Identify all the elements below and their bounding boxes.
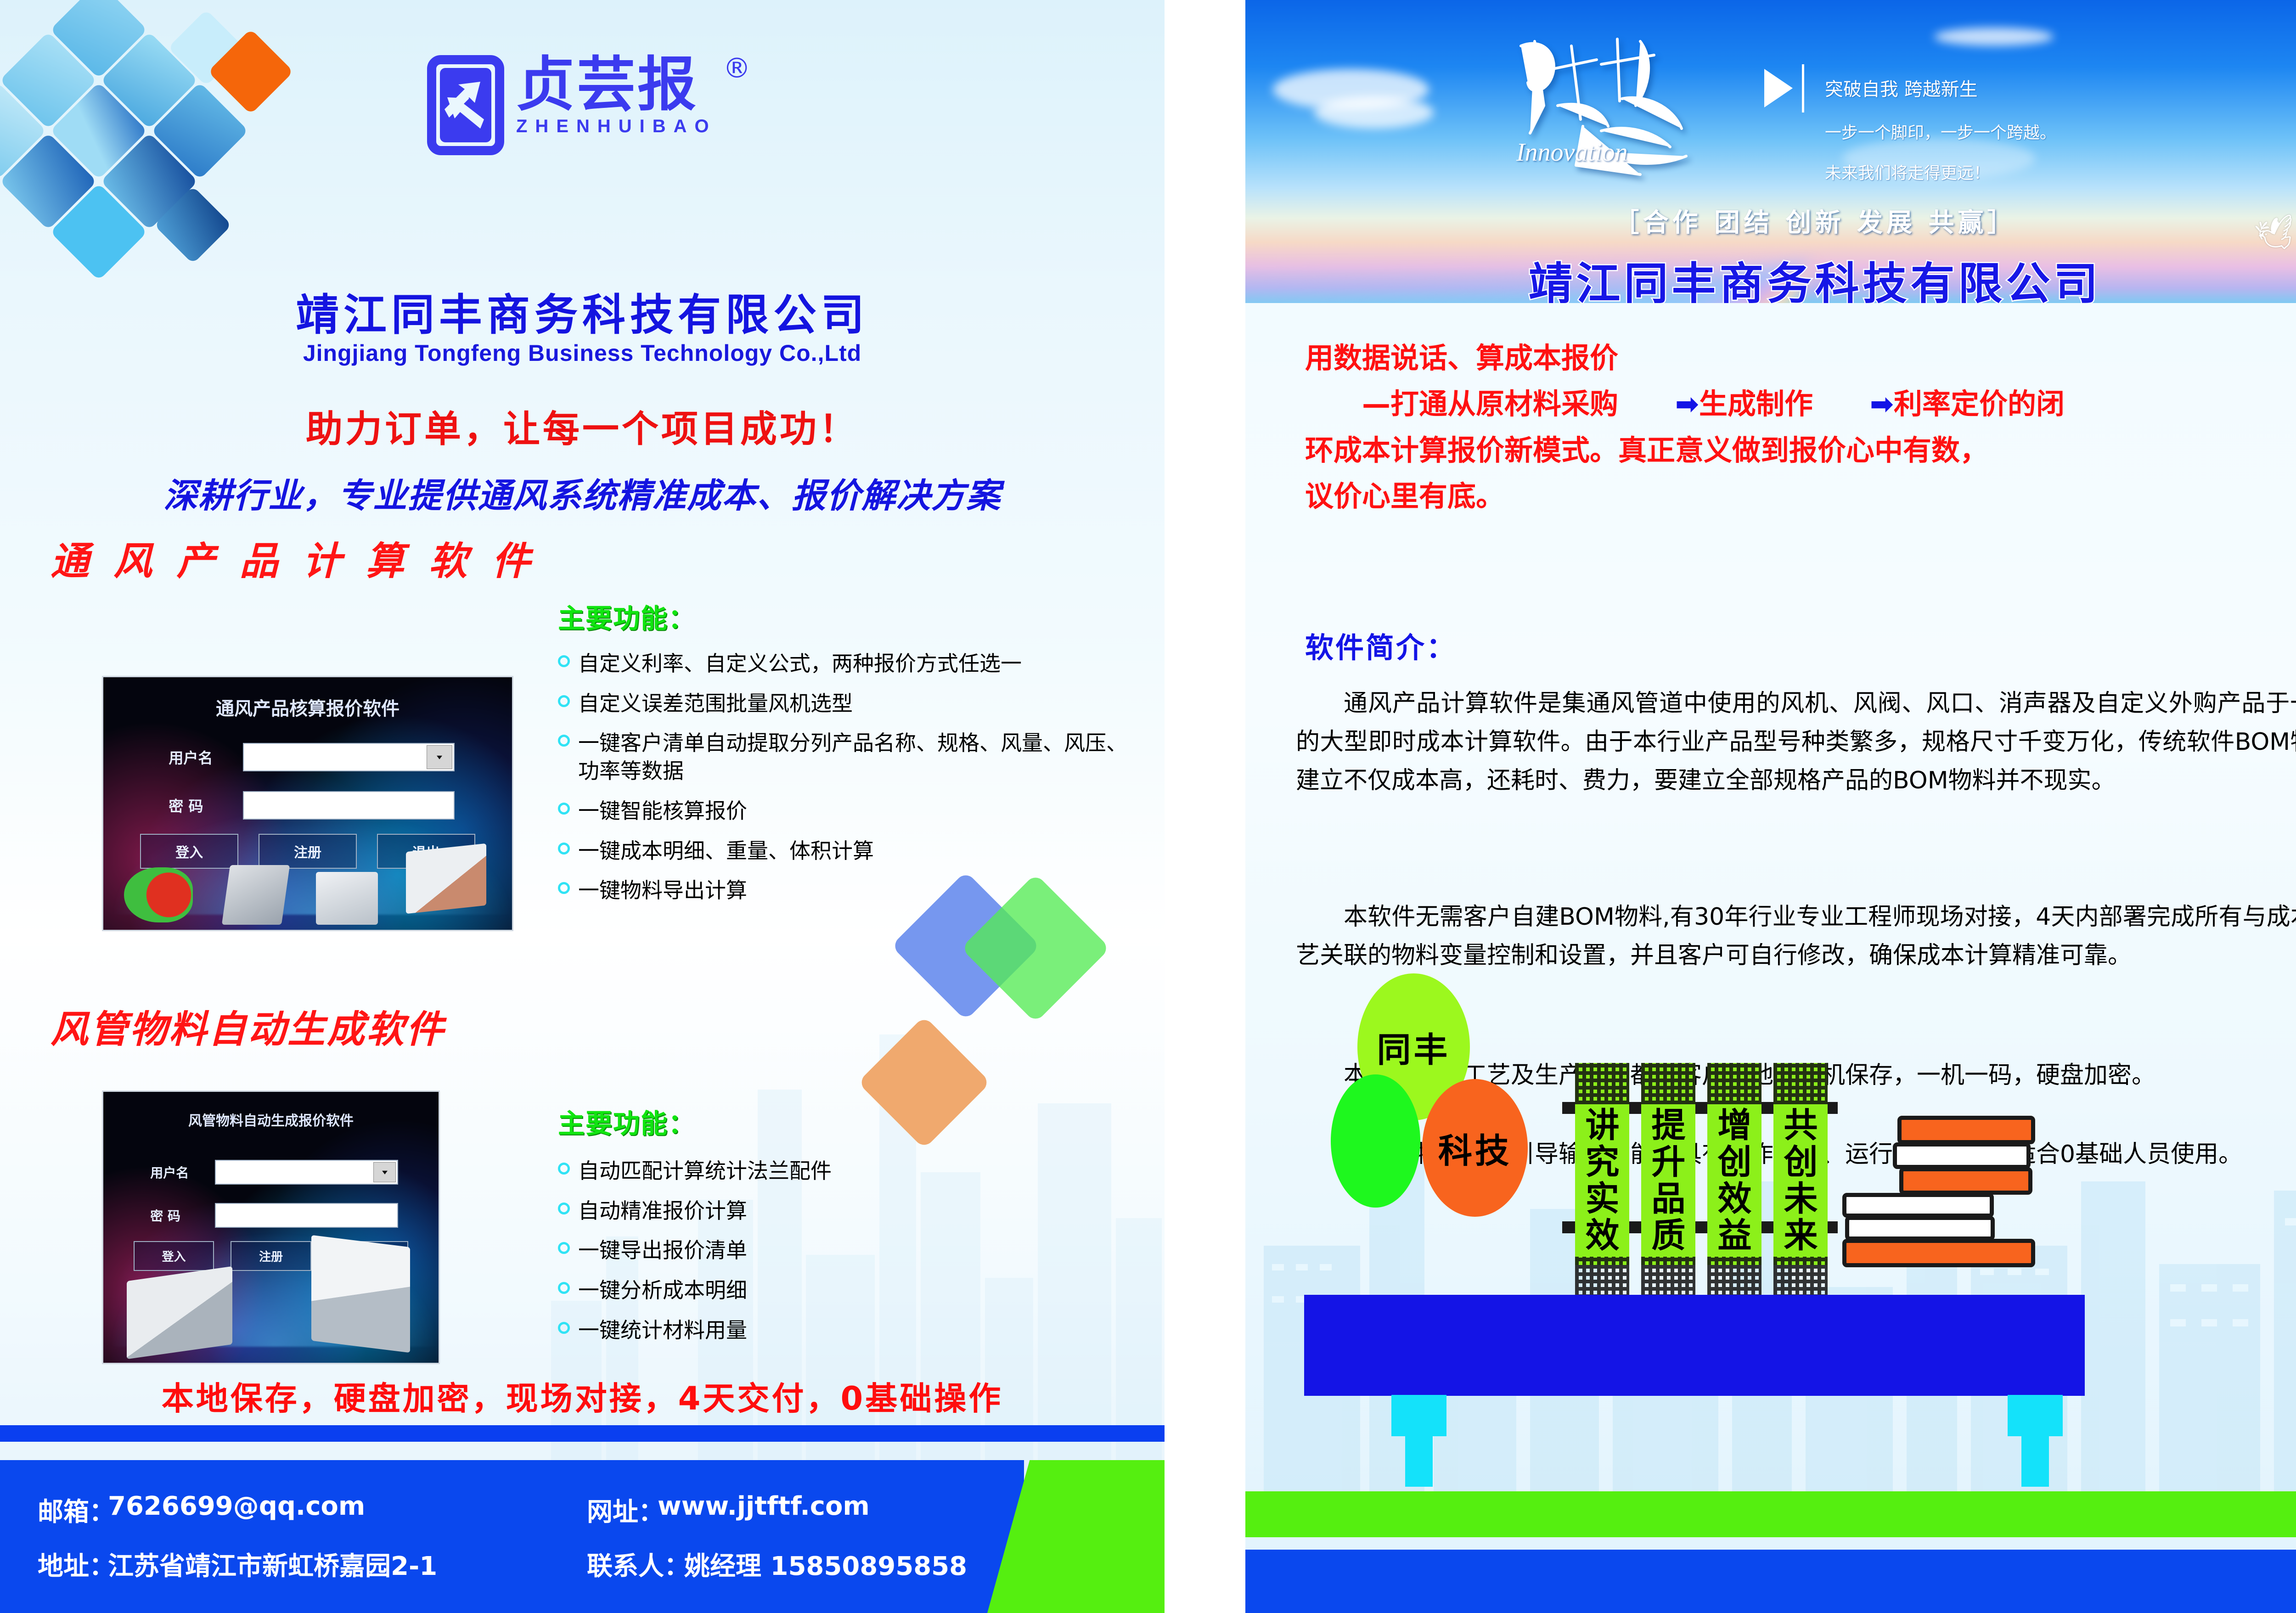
headline-line-2b: 生成制作 bbox=[1699, 387, 1813, 421]
feature-item: 自动匹配计算统计法兰配件 bbox=[558, 1157, 1137, 1185]
banner-1-ornament-top bbox=[1575, 1063, 1629, 1104]
hero-line-2: 一步一个脚印，一步一个跨越。 bbox=[1825, 119, 2056, 143]
left-slogan-blue: 深耕行业，专业提供通风系统精准成本、报价解决方案 bbox=[0, 468, 1165, 517]
app1-title: 通风产品核算报价软件 bbox=[103, 694, 512, 720]
bullet-dot-icon bbox=[558, 1242, 570, 1254]
footer-address-label: 地址： bbox=[38, 1546, 115, 1583]
right-company-name: 靖江同丰商务科技有限公司 bbox=[1245, 248, 2296, 303]
right-page: Innovation 突破自我 跨越新生 一步一个脚印，一步一个跨越。 未来我们… bbox=[1245, 0, 2296, 1613]
banner-2-ornament-top bbox=[1641, 1063, 1695, 1104]
section1-feature-list: 自定义利率、自定义公式，两种报价方式任选一自定义误差范围批量风机选型一键客户清单… bbox=[558, 650, 1137, 916]
seagull-icon-1: 🕊 bbox=[2252, 212, 2296, 258]
kuayue-english-label: Innovation bbox=[1516, 138, 1628, 167]
left-divider-bar-1 bbox=[0, 1425, 1165, 1442]
app2-username-dropdown-icon[interactable] bbox=[373, 1162, 396, 1182]
app1-username-input[interactable] bbox=[243, 743, 455, 771]
logo-z-arrows-icon bbox=[436, 64, 495, 146]
footer-email-value[interactable]: 7626699@qq.com bbox=[108, 1491, 365, 1521]
hero-line-3: 未来我们将走得更远！ bbox=[1825, 160, 1990, 184]
hero-vertical-rule bbox=[1802, 64, 1804, 112]
feature-item: 一键导出报价清单 bbox=[558, 1236, 1137, 1265]
left-page: 贞芸报 ® ZHENHUIBAO 靖江同丰商务科技有限公司 Jingjiang … bbox=[0, 0, 1165, 1613]
product-grille-image bbox=[316, 872, 378, 925]
banner-2: 提升品质 bbox=[1641, 1063, 1695, 1265]
hero-values-tagline: ［合作 团结 创新 发展 共赢］ bbox=[1245, 202, 2296, 239]
left-bottom-banner-text: 本地保存，硬盘加密，现场对接，4天交付，0基础操作 bbox=[0, 1373, 1165, 1419]
feature-item-label: 一键统计材料用量 bbox=[578, 1316, 747, 1344]
footer-contact-label: 联系人： bbox=[587, 1546, 690, 1583]
left-company-name-en: Jingjiang Tongfeng Business Technology C… bbox=[0, 340, 1165, 366]
bullet-dot-icon bbox=[558, 882, 570, 894]
banner-2-ornament-bottom bbox=[1641, 1257, 1695, 1298]
registered-trademark-icon: ® bbox=[723, 52, 751, 84]
footer-website-value[interactable]: www.jjtftf.com bbox=[658, 1491, 870, 1521]
section1-app-screenshot: 通风产品核算报价软件 用户名 密 码 登入 注册 退出 bbox=[102, 676, 513, 931]
intro-paragraph-2: 本软件无需客户自建BOM物料,有30年行业专业工程师现场对接，4天内部署完成所有… bbox=[1296, 898, 2296, 975]
left-slogan-red: 助力订单，让每一个项目成功！ bbox=[0, 399, 1165, 453]
banner-3: 增创效益 bbox=[1707, 1063, 1761, 1265]
right-headline-block: 用数据说话、算成本报价 —打通从原材料采购➡生成制作➡利率定价的闭 环成本计算报… bbox=[1305, 335, 2296, 520]
right-hero-sky: Innovation 突破自我 跨越新生 一步一个脚印，一步一个跨越。 未来我们… bbox=[1245, 0, 2296, 303]
arrow-right-icon-2: ➡ bbox=[1813, 381, 1894, 427]
logo-chinese-text: 贞芸报 bbox=[516, 55, 717, 115]
ellipse-keji: 科技 bbox=[1422, 1079, 1528, 1217]
left-footer: 邮箱： 7626699@qq.com 网址： www.jjtftf.com 地址… bbox=[0, 1460, 1024, 1613]
logo-mark-icon bbox=[427, 55, 504, 155]
app1-username-dropdown-icon[interactable] bbox=[427, 745, 453, 769]
feature-item: 自动精准报价计算 bbox=[558, 1197, 1137, 1225]
feature-item: 自定义利率、自定义公式，两种报价方式任选一 bbox=[558, 650, 1137, 678]
banner-4-ornament-top bbox=[1773, 1063, 1828, 1104]
product-duct-panel-image bbox=[311, 1235, 410, 1352]
shelf-leg-left bbox=[1405, 1395, 1433, 1487]
app1-password-input[interactable] bbox=[243, 791, 455, 820]
poster-spread: 贞芸报 ® ZHENHUIBAO 靖江同丰商务科技有限公司 Jingjiang … bbox=[0, 0, 2296, 1613]
bullet-dot-icon bbox=[558, 735, 570, 747]
app2-login-button[interactable]: 登入 bbox=[134, 1241, 214, 1271]
banner-4-ornament-bottom bbox=[1773, 1257, 1828, 1298]
right-green-band bbox=[1245, 1491, 2296, 1537]
brand-logo: 贞芸报 ® ZHENHUIBAO bbox=[427, 55, 717, 155]
feature-item-label: 自定义误差范围批量风机选型 bbox=[578, 690, 853, 718]
banner-4-text: 共创未来 bbox=[1773, 1104, 1823, 1257]
banner-3-ornament-bottom bbox=[1707, 1257, 1761, 1298]
bullet-dot-icon bbox=[558, 695, 570, 707]
app2-username-input[interactable] bbox=[215, 1160, 399, 1185]
logo-pinyin-text: ZHENHUIBAO bbox=[516, 116, 717, 137]
feature-item: 一键分析成本明细 bbox=[558, 1276, 1137, 1304]
bullet-dot-icon bbox=[558, 655, 570, 667]
app1-username-label: 用户名 bbox=[169, 747, 243, 768]
banner-3-text: 增创效益 bbox=[1707, 1104, 1756, 1257]
banner-4: 共创未来 bbox=[1773, 1063, 1828, 1265]
bullet-dot-icon bbox=[558, 1203, 570, 1214]
feature-item: 一键统计材料用量 bbox=[558, 1316, 1137, 1344]
bullet-dot-icon bbox=[558, 1282, 570, 1294]
headline-line-1: 用数据说话、算成本报价 bbox=[1305, 335, 2296, 381]
section2-app-screenshot: 风管物料自动生成报价软件 用户名 密 码 登入 注册 退出 bbox=[102, 1090, 440, 1364]
section1-features-heading: 主要功能： bbox=[558, 597, 696, 635]
feature-item: 一键智能核算报价 bbox=[558, 797, 1137, 825]
books-stack-icon bbox=[1842, 1116, 2035, 1267]
product-duct-box-image bbox=[127, 1266, 232, 1359]
feature-item-label: 一键分析成本明细 bbox=[578, 1276, 747, 1304]
app2-register-button[interactable]: 注册 bbox=[231, 1241, 311, 1271]
app2-title: 风管物料自动生成报价软件 bbox=[103, 1109, 439, 1130]
section2-features-heading: 主要功能： bbox=[558, 1102, 696, 1141]
product-silencer-image bbox=[222, 865, 290, 925]
shelf-leg-right bbox=[2021, 1395, 2049, 1487]
bullet-dot-icon bbox=[558, 803, 570, 815]
headline-line-2c: 利率定价的闭 bbox=[1894, 387, 2065, 421]
banner-1: 讲究实效 bbox=[1575, 1063, 1629, 1265]
app2-password-label: 密 码 bbox=[150, 1206, 214, 1225]
feature-item: 一键客户清单自动提取分列产品名称、规格、风量、风压、功率等数据 bbox=[558, 729, 1137, 785]
banner-1-ornament-bottom bbox=[1575, 1257, 1629, 1298]
banner-1-text: 讲究实效 bbox=[1575, 1104, 1624, 1257]
section2-feature-list: 自动匹配计算统计法兰配件自动精准报价计算一键导出报价清单一键分析成本明细一键统计… bbox=[558, 1157, 1137, 1356]
footer-contact-value: 姚经理 15850895858 bbox=[684, 1546, 967, 1583]
right-blue-band bbox=[1245, 1550, 2296, 1613]
feature-item-label: 自定义利率、自定义公式，两种报价方式任选一 bbox=[578, 650, 1022, 678]
banner-2-text: 提升品质 bbox=[1641, 1104, 1690, 1257]
intro-paragraph-1: 通风产品计算软件是集通风管道中使用的风机、风阀、风口、消声器及自定义外购产品于一… bbox=[1296, 684, 2296, 800]
footer-website-label: 网址： bbox=[587, 1491, 664, 1529]
shelf-board bbox=[1304, 1295, 2085, 1396]
ellipse-green-plain bbox=[1331, 1074, 1420, 1208]
app1-login-button[interactable]: 登入 bbox=[140, 834, 238, 869]
app1-password-label: 密 码 bbox=[169, 795, 243, 816]
bullet-dot-icon bbox=[558, 1322, 570, 1334]
footer-address-value: 江苏省靖江市新虹桥嘉园2-1 bbox=[108, 1546, 437, 1583]
banner-3-ornament-top bbox=[1707, 1063, 1761, 1104]
section1-title: 通 风 产 品 计 算 软 件 bbox=[51, 530, 536, 586]
hero-line-1: 突破自我 跨越新生 bbox=[1825, 74, 1978, 101]
feature-item-label: 一键成本明细、重量、体积计算 bbox=[578, 837, 874, 865]
bullet-dot-icon bbox=[558, 843, 570, 854]
headline-line-4: 议价心里有底。 bbox=[1305, 473, 2296, 519]
headline-line-2a: —打通从原材料采购 bbox=[1362, 387, 1618, 421]
bullet-dot-icon bbox=[558, 1163, 570, 1175]
feature-item-label: 自动精准报价计算 bbox=[578, 1197, 747, 1225]
software-intro-title: 软件简介： bbox=[1305, 624, 1457, 666]
section2-title: 风管物料自动生成软件 bbox=[51, 999, 445, 1053]
product-fan-image bbox=[124, 867, 193, 922]
app2-password-input[interactable] bbox=[215, 1203, 399, 1228]
left-company-name: 靖江同丰商务科技有限公司 bbox=[0, 280, 1165, 343]
feature-item-label: 一键物料导出计算 bbox=[578, 877, 747, 905]
feature-item-label: 一键客户清单自动提取分列产品名称、规格、风量、风压、功率等数据 bbox=[578, 729, 1137, 785]
arrow-right-icon-1: ➡ bbox=[1618, 381, 1699, 427]
feature-item-label: 一键智能核算报价 bbox=[578, 797, 747, 825]
footer-email-label: 邮箱： bbox=[38, 1491, 115, 1529]
feature-item-label: 一键导出报价清单 bbox=[578, 1236, 747, 1265]
play-triangle-icon bbox=[1764, 69, 1793, 107]
right-body: 用数据说话、算成本报价 —打通从原材料采购➡生成制作➡利率定价的闭 环成本计算报… bbox=[1245, 303, 2296, 1613]
app1-register-button[interactable]: 注册 bbox=[259, 834, 357, 869]
headline-line-3: 环成本计算报价新模式。真正意义做到报价心中有数， bbox=[1305, 427, 2296, 473]
diamond-mosaic-decoration bbox=[0, 0, 276, 280]
product-duct-image bbox=[406, 843, 486, 914]
feature-item: 一键成本明细、重量、体积计算 bbox=[558, 837, 1137, 865]
feature-item-label: 自动匹配计算统计法兰配件 bbox=[578, 1157, 832, 1185]
feature-item: 自定义误差范围批量风机选型 bbox=[558, 690, 1137, 718]
app2-username-label: 用户名 bbox=[150, 1163, 214, 1181]
